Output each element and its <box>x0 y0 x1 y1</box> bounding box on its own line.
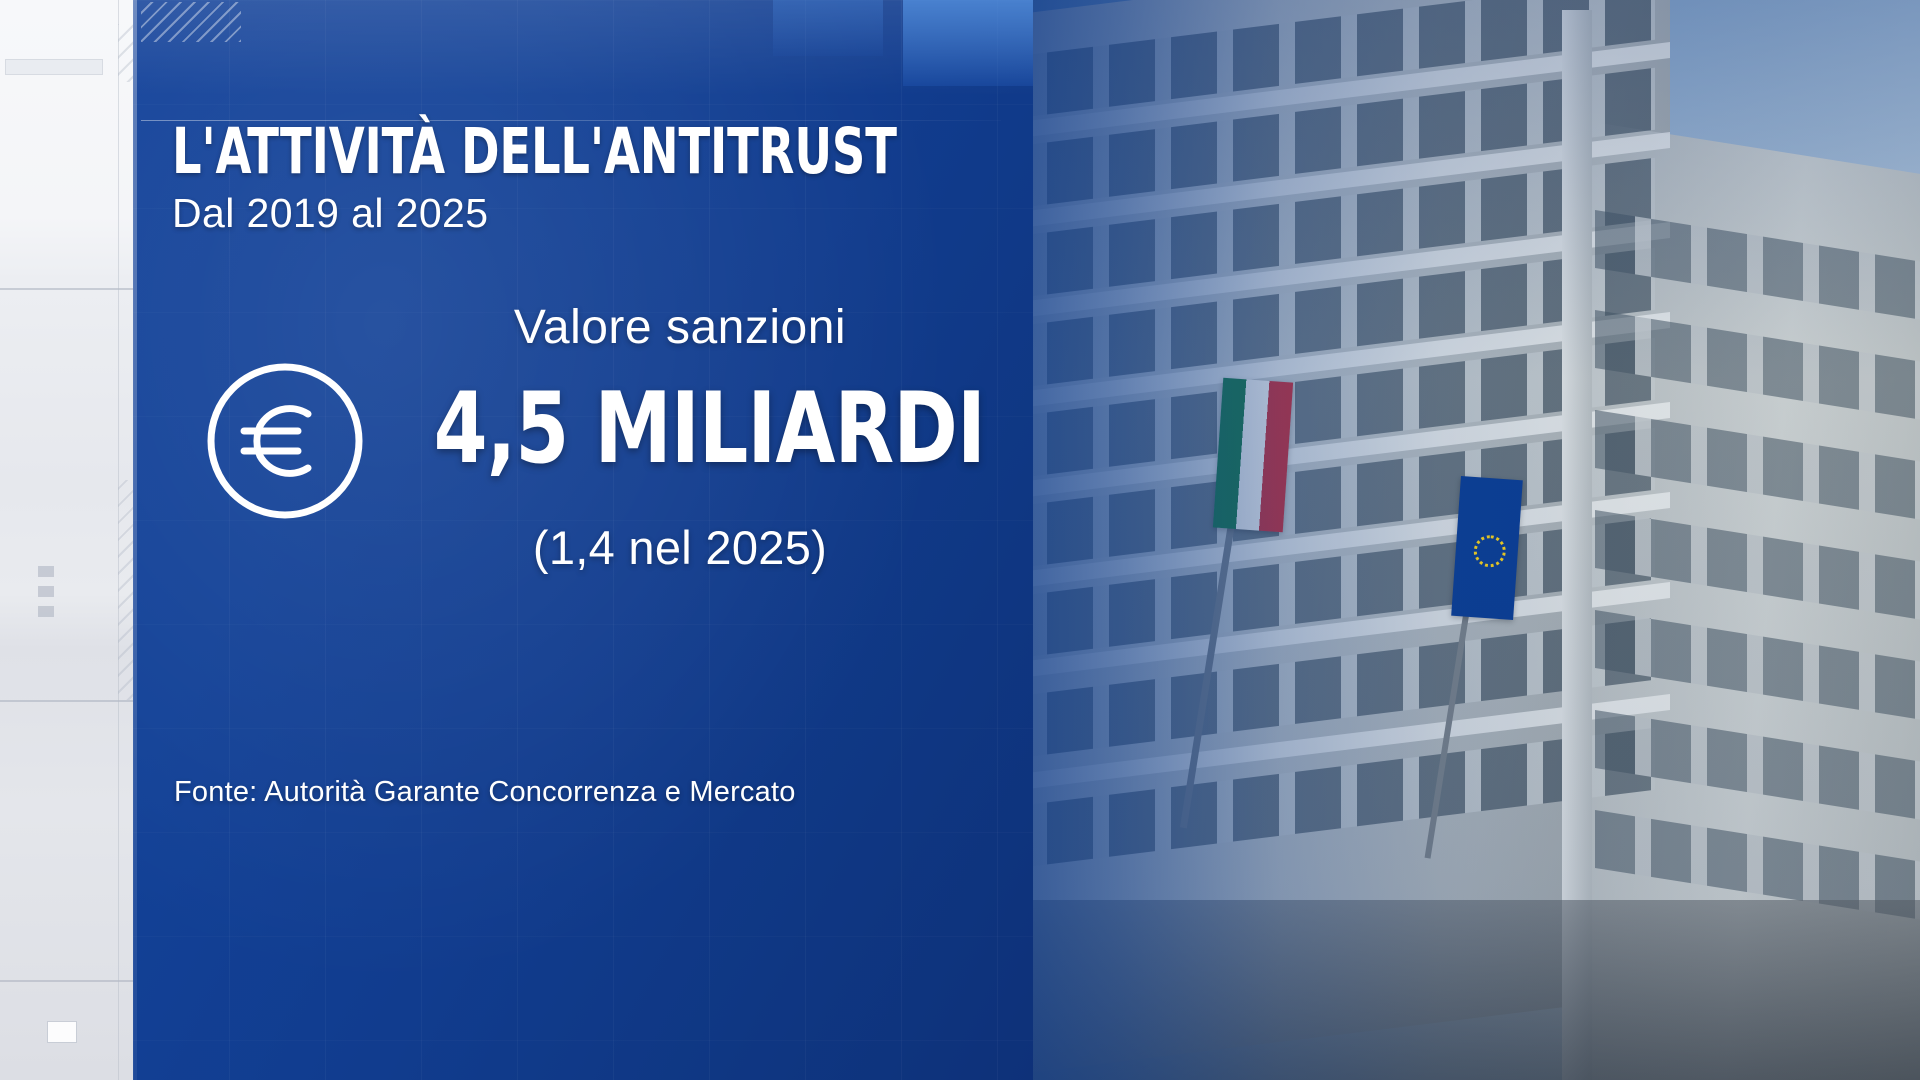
source-credit: Fonte: Autorità Garante Concorrenza e Me… <box>174 776 796 809</box>
backdrop-square <box>48 1022 76 1042</box>
broadcast-graphic: L'ATTIVITÀ DELL'ANTITRUST Dal 2019 al 20… <box>0 0 1920 1080</box>
metric-note: (1,4 nel 2025) <box>400 520 960 575</box>
backdrop-bar <box>6 60 102 74</box>
panel-accent-tab-secondary <box>773 0 883 56</box>
euro-circle-icon <box>202 358 368 524</box>
panel-corner-hatch <box>141 2 241 42</box>
metric-value: 4,5 MILIARDI <box>434 380 927 478</box>
backdrop-dot-stack <box>38 566 54 626</box>
panel-top-accent <box>133 0 1033 96</box>
panel-accent-tab <box>903 0 1033 86</box>
page-title: L'ATTIVITÀ DELL'ANTITRUST <box>172 120 897 183</box>
metric-label: Valore sanzioni <box>400 300 960 355</box>
page-subtitle: Dal 2019 al 2025 <box>172 190 488 237</box>
panel-left-edge <box>133 0 137 1080</box>
